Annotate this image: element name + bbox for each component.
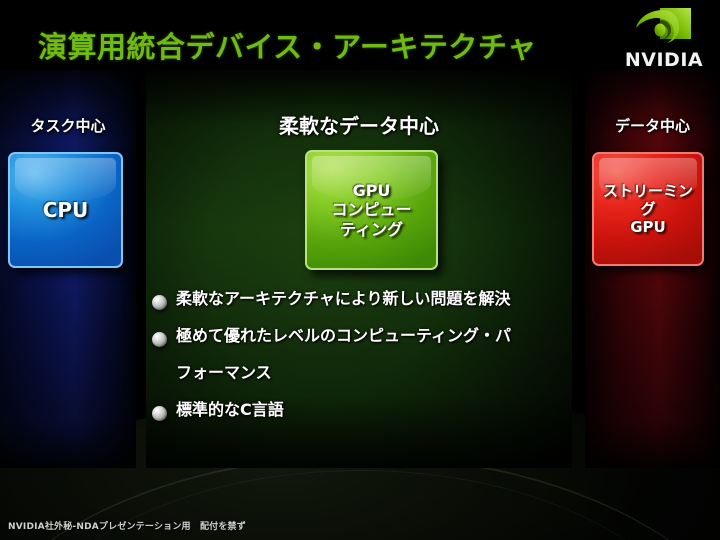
list-item-text: 柔軟なアーキテクチャにより新しい問題を解決 [176,289,568,309]
bullet-sphere-icon [152,295,167,310]
chip-gpu-line-3: ティング [340,220,403,239]
list-item-text: 極めて優れたレベルのコンピューティング・パ [176,326,568,346]
chip-gpu-computing[interactable]: GPU コンピュー ティング [305,150,438,270]
bullet-sphere-icon [152,406,167,421]
list-item: 柔軟なアーキテクチャにより新しい問題を解決 [152,289,568,319]
nvidia-wordmark: NVIDIA [616,49,712,71]
caption-flexible-data-centric: 柔軟なデータ中心 [146,110,572,139]
chip-cpu-label: CPU [37,198,95,222]
chip-gpu-computing-label: GPU コンピュー ティング [325,181,417,240]
chip-gpu-line-2: コンピュー [331,200,411,219]
caption-data-centric: データ中心 [585,115,720,136]
bullet-list: 柔軟なアーキテクチャにより新しい問題を解決 極めて優れたレベルのコンピューティン… [152,289,568,437]
list-item-continuation: フォーマンス [152,363,568,393]
chip-streaming-gpu[interactable]: ストリーミング GPU [592,152,704,266]
list-item: 極めて優れたレベルのコンピューティング・パ [152,326,568,356]
caption-task-centric: タスク中心 [0,115,136,136]
nvidia-logo: NVIDIA [616,6,712,72]
chip-cpu[interactable]: CPU [8,152,123,268]
chip-gpu-line-1: GPU [353,181,391,200]
chip-streaming-gpu-label: ストリーミング GPU [594,182,702,237]
list-item-text: 標準的なC言語 [176,400,568,420]
bullet-sphere-icon [152,332,167,347]
nvidia-eye-icon [634,6,694,50]
list-item: 標準的なC言語 [152,400,568,430]
chip-streaming-gpu-line-2: GPU [630,218,666,236]
slide-title: 演算用統合デバイス・アーキテクチャ [38,24,537,66]
slide-canvas: 演算用統合デバイス・アーキテクチャ NVIDIA タスク中心 柔軟なデータ中心 [0,0,720,540]
list-item-text: フォーマンス [176,363,568,383]
chip-streaming-gpu-line-1: ストリーミング [603,182,693,218]
confidentiality-footer: NVIDIA社外秘-NDAプレゼンテーション用 配付を禁ず [8,519,246,532]
